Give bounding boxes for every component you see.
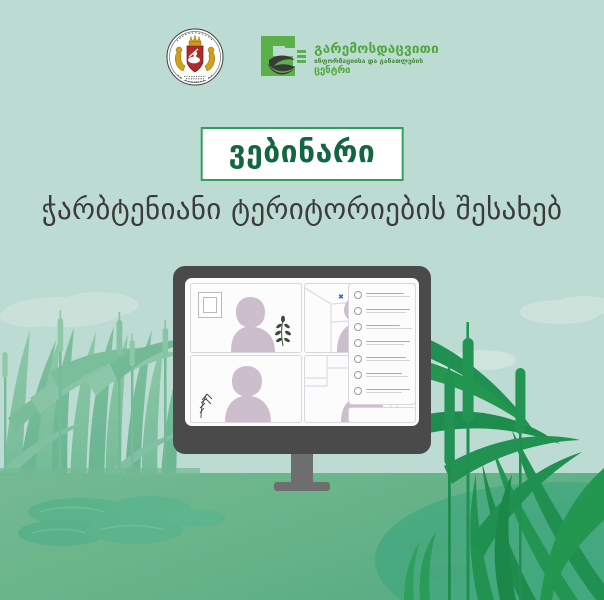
- avatar: [354, 355, 362, 363]
- table-row[interactable]: [190, 283, 302, 353]
- webinar-badge-label: ვებინარი: [229, 138, 376, 168]
- monitor-illustration: ✖: [173, 266, 431, 454]
- poster-canvas: გარემოსდაცვითი ინფორმაციისა და განათლები…: [0, 0, 604, 600]
- header-logos: გარემოსდაცვითი ინფორმაციისა და განათლები…: [0, 24, 604, 94]
- avatar: [354, 291, 362, 299]
- list-item[interactable]: [354, 387, 410, 395]
- table-row[interactable]: [190, 355, 302, 423]
- avatar: [354, 339, 362, 347]
- participant-list-panel[interactable]: [348, 283, 416, 405]
- list-item[interactable]: [354, 307, 410, 315]
- eiec-line-3: ცენტრი: [314, 66, 439, 76]
- list-item[interactable]: [354, 291, 410, 299]
- eiec-line-1: გარემოსდაცვითი: [314, 42, 439, 56]
- eiec-logo-icon: [255, 34, 307, 84]
- avatar: [354, 371, 362, 379]
- eiec-logo: გარემოსდაცვითი ინფორმაციისა და განათლები…: [255, 34, 439, 84]
- eiec-line-2: ინფორმაციისა და განათლების: [314, 58, 439, 65]
- panel-footer[interactable]: [348, 407, 416, 423]
- avatar: [191, 356, 301, 422]
- avatar: [354, 307, 362, 315]
- monitor-stand-base: [274, 482, 330, 491]
- avatar: [191, 284, 301, 352]
- list-item[interactable]: [354, 339, 410, 347]
- cursor-icon: ✖: [338, 294, 344, 301]
- video-call-screen: ✖: [185, 278, 419, 426]
- page-title: ჭარბტენიანი ტერიტორიების შესახებ: [0, 192, 604, 226]
- avatar: [354, 323, 362, 331]
- shore-grass: [0, 468, 200, 476]
- eiec-logo-text: გარემოსდაცვითი ინფორმაციისა და განათლები…: [314, 42, 439, 76]
- list-item[interactable]: [354, 355, 410, 363]
- webinar-badge: ვებინარი: [201, 127, 404, 181]
- coat-of-arms-icon: [165, 28, 225, 90]
- list-item[interactable]: [354, 323, 412, 331]
- avatar: [354, 387, 362, 395]
- list-item[interactable]: [354, 371, 408, 379]
